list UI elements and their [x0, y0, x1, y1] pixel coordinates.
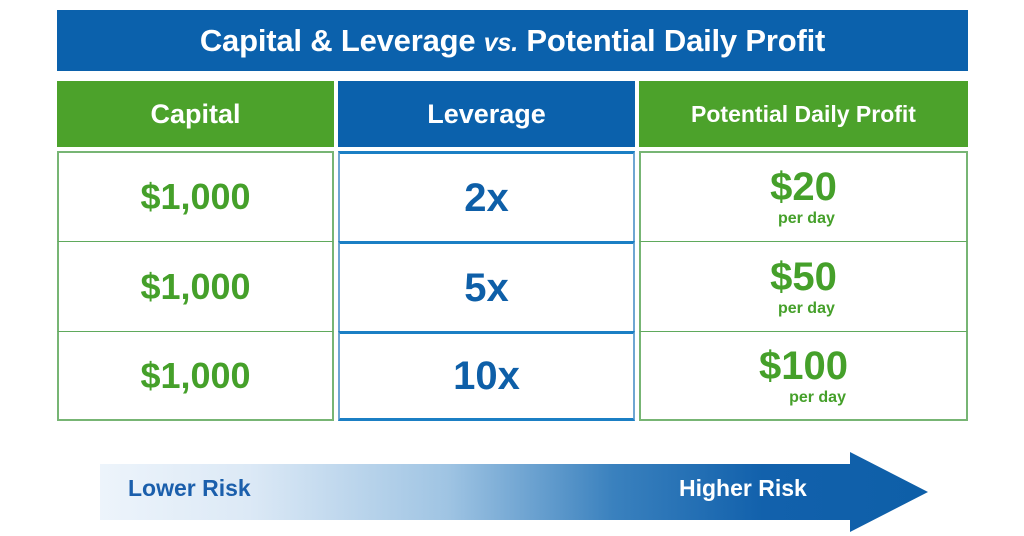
profit-unit: per day — [789, 390, 848, 406]
data-table: $1,000 2x $20 per day $1,000 5x — [57, 151, 968, 421]
title-suffix: Potential Daily Profit — [518, 23, 825, 58]
column-header-potential-daily-profit: Potential Daily Profit — [639, 81, 968, 147]
cell-leverage: 10x — [338, 331, 635, 421]
capital-value: $1,000 — [140, 269, 250, 305]
profit-value: $50 — [770, 257, 837, 297]
column-header-capital: Capital — [57, 81, 334, 147]
leverage-value: 10x — [453, 356, 520, 396]
cell-capital: $1,000 — [57, 151, 334, 241]
title-vs: vs. — [484, 29, 518, 57]
infographic-root: Capital & Leverage vs. Potential Daily P… — [0, 0, 1024, 536]
capital-value: $1,000 — [140, 179, 250, 215]
leverage-value: 2x — [464, 178, 509, 218]
cell-leverage: 2x — [338, 151, 635, 241]
cell-leverage: 5x — [338, 241, 635, 331]
cell-potential-daily-profit: $20 per day — [639, 151, 968, 241]
profit-group: $100 per day — [759, 346, 848, 406]
cell-capital: $1,000 — [57, 241, 334, 331]
capital-value: $1,000 — [140, 358, 250, 394]
table-row: $1,000 5x $50 per day — [57, 241, 968, 331]
profit-unit: per day — [778, 211, 837, 227]
leverage-value: 5x — [464, 268, 509, 308]
risk-label-higher: Higher Risk — [679, 477, 807, 500]
table-header-row: Capital Leverage Potential Daily Profit — [57, 81, 968, 147]
profit-value: $100 — [759, 346, 848, 386]
page-title: Capital & Leverage vs. Potential Daily P… — [200, 25, 825, 56]
profit-value: $20 — [770, 167, 837, 207]
column-header-leverage: Leverage — [338, 81, 635, 147]
table-row: $1,000 2x $20 per day — [57, 151, 968, 241]
profit-unit: per day — [778, 301, 837, 317]
title-bar: Capital & Leverage vs. Potential Daily P… — [57, 10, 968, 71]
table-row: $1,000 10x $100 per day — [57, 331, 968, 421]
cell-capital: $1,000 — [57, 331, 334, 421]
profit-group: $50 per day — [770, 257, 837, 317]
profit-group: $20 per day — [770, 167, 837, 227]
risk-label-lower: Lower Risk — [128, 477, 251, 500]
cell-potential-daily-profit: $100 per day — [639, 331, 968, 421]
title-prefix: Capital & Leverage — [200, 23, 484, 58]
cell-potential-daily-profit: $50 per day — [639, 241, 968, 331]
